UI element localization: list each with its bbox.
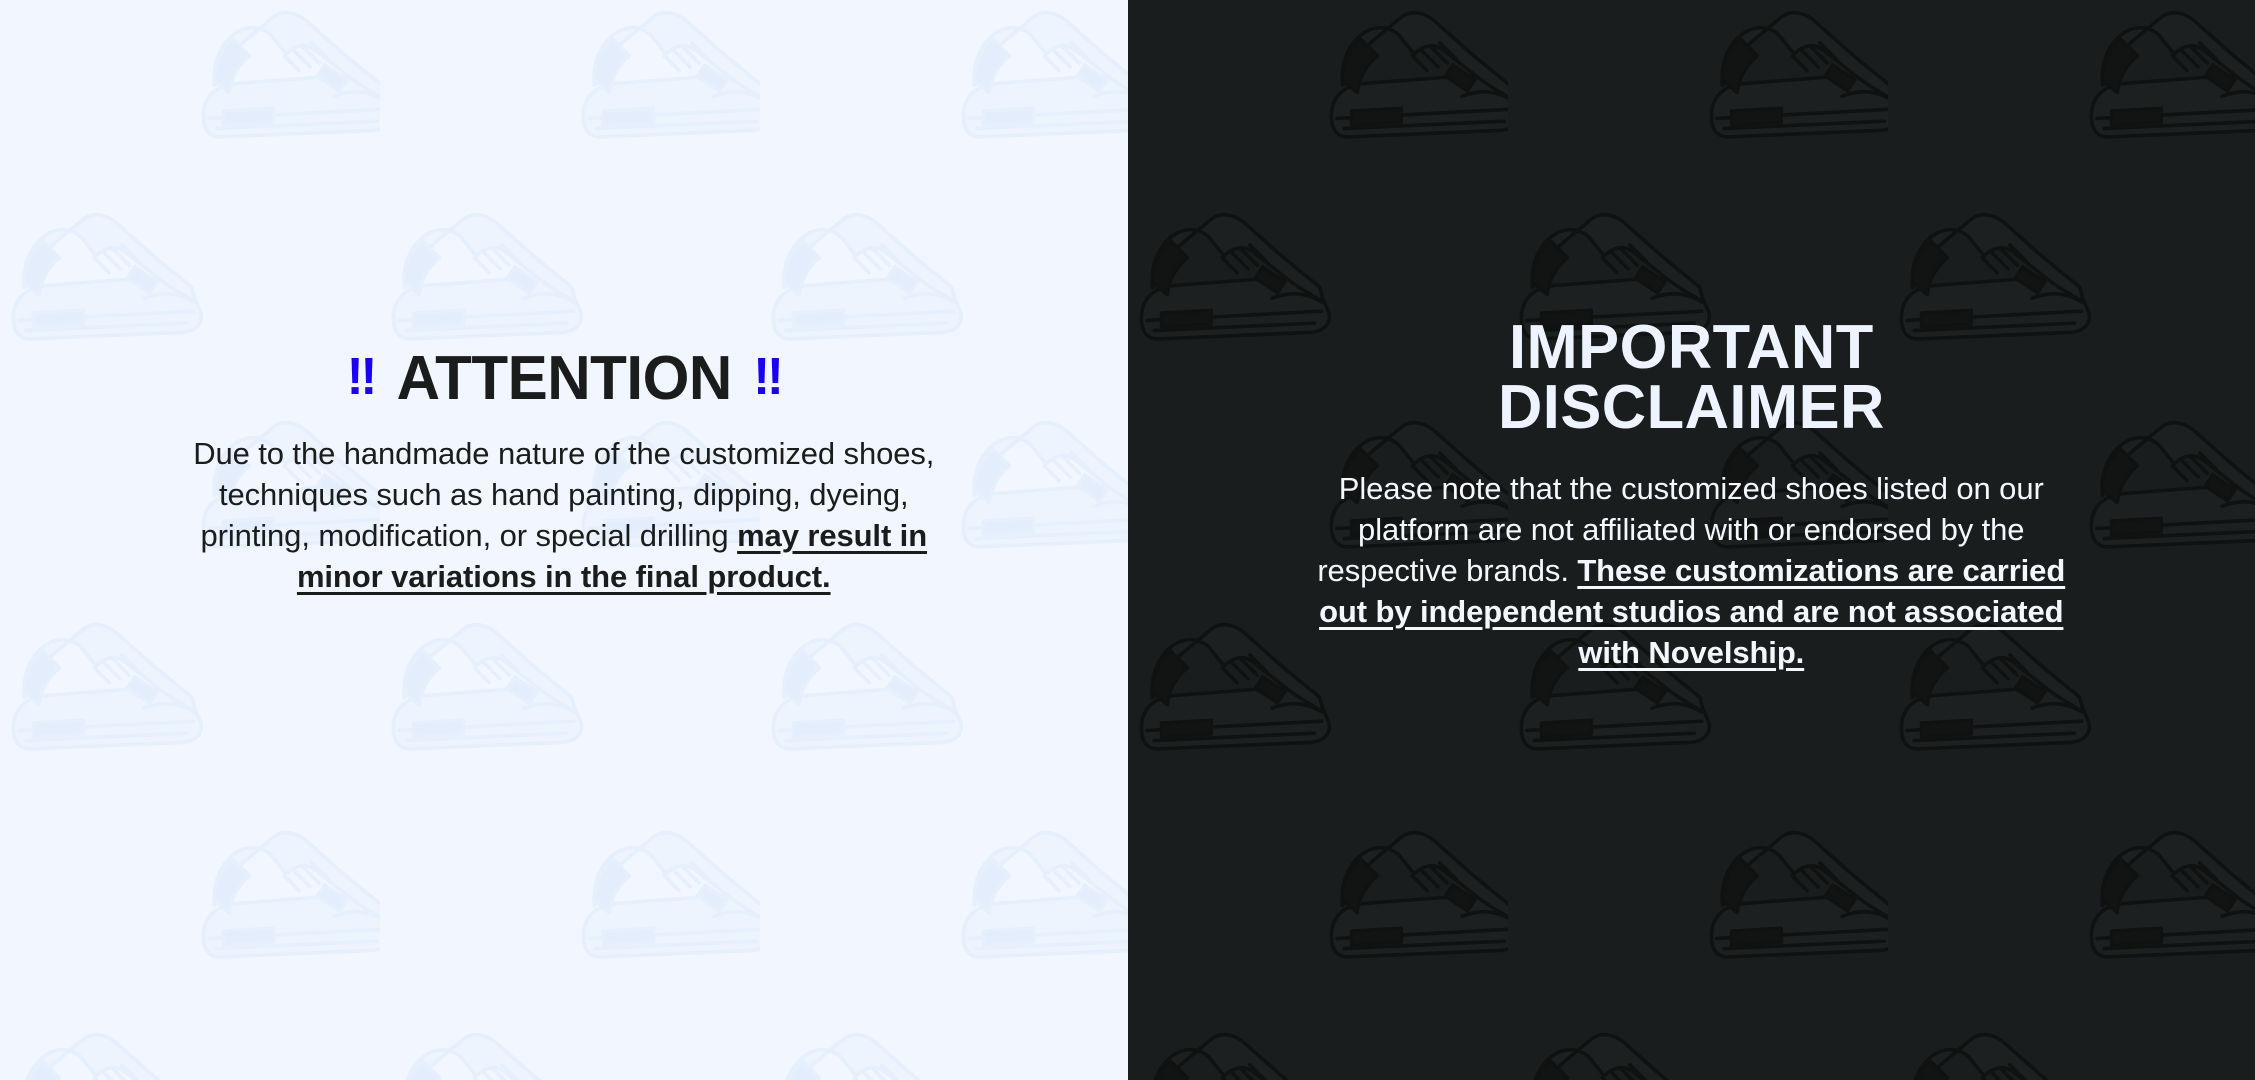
double-exclamation-right-icon: ‼	[753, 351, 782, 403]
disclaimer-heading-line1: IMPORTANT	[1498, 318, 1885, 378]
disclaimer-content: IMPORTANT DISCLAIMER Please note that th…	[1128, 0, 2255, 674]
attention-heading: ‼ ATTENTION ‼	[346, 348, 781, 410]
disclaimer-heading-line2: DISCLAIMER	[1498, 378, 1885, 438]
attention-content: ‼ ATTENTION ‼ Due to the handmade nature…	[0, 0, 1128, 598]
disclaimer-heading: IMPORTANT DISCLAIMER	[1498, 318, 1885, 437]
double-exclamation-left-icon: ‼	[346, 351, 375, 403]
disclaimer-body: Please note that the customized shoes li…	[1291, 469, 2091, 674]
disclaimer-banner: ‼ ATTENTION ‼ Due to the handmade nature…	[0, 0, 2255, 1080]
attention-heading-word: ATTENTION	[396, 348, 731, 410]
attention-body: Due to the handmade nature of the custom…	[184, 434, 944, 598]
attention-panel: ‼ ATTENTION ‼ Due to the handmade nature…	[0, 0, 1128, 1080]
disclaimer-panel: IMPORTANT DISCLAIMER Please note that th…	[1128, 0, 2255, 1080]
